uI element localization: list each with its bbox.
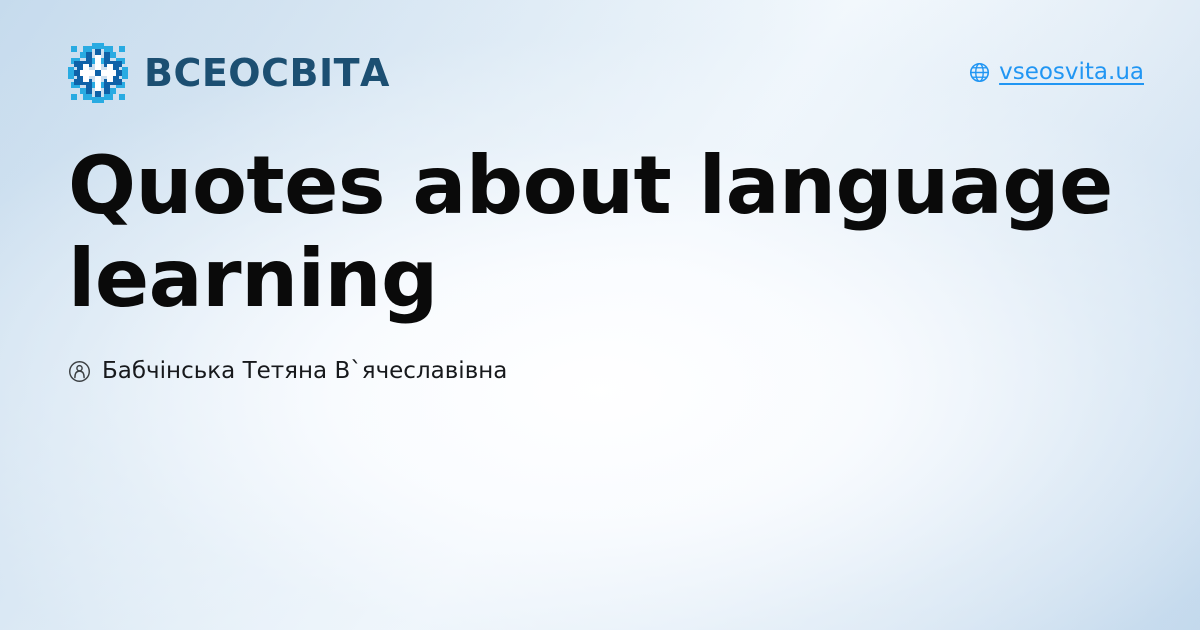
site-url-label: vseosvita.ua [999, 60, 1144, 85]
globe-icon [969, 62, 990, 83]
author-name: Бабчінська Тетяна В`ячеславівна [102, 358, 507, 386]
vseosvita-pixel-snowflake-logo-icon [68, 43, 128, 103]
person-in-circle-icon [68, 360, 91, 383]
page-title: Quotes about language learning [68, 140, 1140, 326]
main-content: Quotes about language learning Бабчінськ… [68, 140, 1140, 385]
page-header: ВСЕОСВІТА vseosvita.ua [68, 40, 1144, 106]
preview-card: ВСЕОСВІТА vseosvita.ua Quotes about lang… [0, 0, 1200, 630]
author-row: Бабчінська Тетяна В`ячеславівна [68, 358, 1140, 386]
brand-wordmark: ВСЕОСВІТА [144, 54, 390, 92]
site-url-link[interactable]: vseosvita.ua [969, 60, 1144, 85]
brand-logo[interactable]: ВСЕОСВІТА [68, 43, 390, 103]
